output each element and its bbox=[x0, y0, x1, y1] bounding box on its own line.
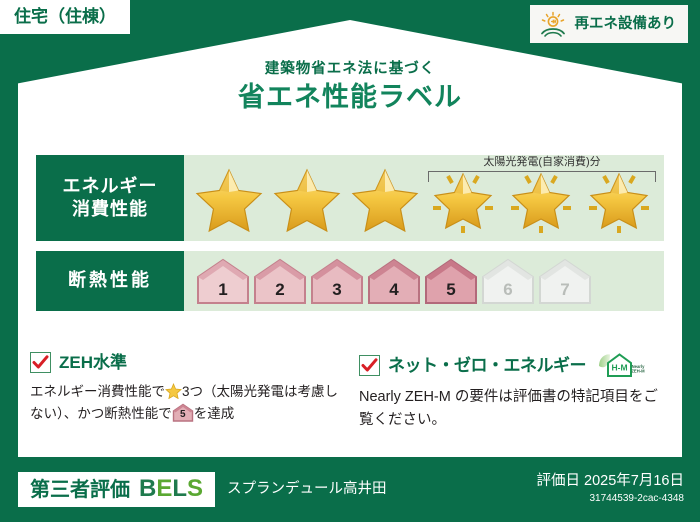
star-rating bbox=[184, 162, 664, 234]
evaluation-date-value: 2025年7月16日 bbox=[584, 473, 684, 489]
inline-star-icon bbox=[165, 383, 182, 399]
insulation-performance-label: 断熱性能 bbox=[36, 251, 184, 311]
bels-letter-e: E bbox=[156, 475, 172, 502]
check-icon bbox=[361, 357, 378, 374]
insulation-grade-4-number: 4 bbox=[367, 281, 421, 298]
insulation-grade-2-number: 2 bbox=[253, 281, 307, 298]
title-block: 建築物省エネ法に基づく 省エネ性能ラベル bbox=[0, 62, 700, 115]
zehm-logo-sub2: ZEH-M bbox=[631, 369, 645, 374]
bels-wordmark: BELS bbox=[139, 477, 203, 501]
star-6-solar bbox=[580, 162, 658, 234]
insulation-grade-2: 2 bbox=[253, 257, 307, 305]
insulation-grade-6: 6 bbox=[481, 257, 535, 305]
nearly-zeh-m-logo: H-M Nearly ZEH-M bbox=[597, 352, 645, 378]
insulation-grade-7-number: 7 bbox=[538, 281, 592, 298]
building-name: スプランデュール高井田 bbox=[227, 482, 387, 497]
renewable-equipment-badge: 再エネ設備あり bbox=[530, 5, 689, 43]
sun-solar-icon bbox=[538, 11, 568, 37]
check-icon bbox=[32, 354, 49, 371]
bels-letter-b: B bbox=[139, 475, 156, 502]
insulation-performance-row: 断熱性能 1 bbox=[36, 251, 664, 311]
insulation-grade-3-number: 3 bbox=[310, 281, 364, 298]
insulation-grade-6-number: 6 bbox=[481, 281, 535, 298]
bels-certification-box: 第三者評価 BELS bbox=[18, 472, 215, 507]
evaluation-date: 評価日 2025年7月16日 bbox=[537, 473, 684, 490]
footer-bar: 第三者評価 BELS スプランデュール高井田 評価日 2025年7月16日 31… bbox=[0, 457, 700, 522]
zeh-standard-checkbox[interactable] bbox=[30, 352, 51, 373]
energy-performance-label: エネルギー 消費性能 bbox=[36, 155, 184, 241]
insulation-rating-area: 1 2 3 bbox=[184, 251, 664, 311]
page-title: 省エネ性能ラベル bbox=[0, 81, 700, 115]
insulation-grade-5-number: 5 bbox=[424, 281, 478, 298]
insulation-grade-1: 1 bbox=[196, 257, 250, 305]
energy-label-line1: エネルギー bbox=[63, 175, 158, 198]
insulation-grade-4: 4 bbox=[367, 257, 421, 305]
energy-rating-area: 太陽光発電(自家消費)分 bbox=[184, 155, 664, 241]
insulation-grade-5: 5 bbox=[424, 257, 478, 305]
insulation-grade-3: 3 bbox=[310, 257, 364, 305]
star-4-solar bbox=[424, 162, 502, 234]
evaluation-id: 31744539-2cac-4348 bbox=[537, 492, 684, 506]
insulation-grade-1-number: 1 bbox=[196, 281, 250, 298]
inline-house-grade-icon: 5 bbox=[172, 403, 194, 422]
insulation-grade-7: 7 bbox=[538, 257, 592, 305]
building-type-tag: 住宅（住棟） bbox=[0, 0, 130, 34]
label-subtitle: 建築物省エネ法に基づく bbox=[0, 62, 700, 78]
criteria-section: ZEH水準 エネルギー消費性能で3つ（太陽光発電は考慮しない）、かつ断熱性能で5… bbox=[30, 352, 670, 432]
net-zero-energy-checkbox[interactable] bbox=[359, 355, 380, 376]
star-1 bbox=[190, 162, 268, 234]
bels-letter-l: L bbox=[172, 475, 187, 502]
zeh-desc-part1: エネルギー消費性能で bbox=[30, 384, 165, 399]
energy-label-line2: 消費性能 bbox=[72, 198, 148, 221]
star-5-solar bbox=[502, 162, 580, 234]
criterion-nze-header: ネット・ゼロ・エネルギー H-M Nearly ZEH-M bbox=[359, 352, 670, 378]
insulation-grade-list: 1 2 3 bbox=[184, 257, 592, 305]
insulation-label-text: 断熱性能 bbox=[68, 269, 152, 292]
zehm-logo-main-text: H-M bbox=[611, 363, 627, 373]
star-3 bbox=[346, 162, 424, 234]
zeh-standard-description: エネルギー消費性能で3つ（太陽光発電は考慮しない）、かつ断熱性能で5を達成 bbox=[30, 381, 341, 426]
zeh-desc-part3: を達成 bbox=[194, 406, 235, 421]
criterion-zeh-header: ZEH水準 bbox=[30, 352, 341, 373]
star-2 bbox=[268, 162, 346, 234]
evaluation-date-label: 評価日 bbox=[537, 473, 581, 489]
criterion-zeh-standard: ZEH水準 エネルギー消費性能で3つ（太陽光発電は考慮しない）、かつ断熱性能で5… bbox=[30, 352, 341, 432]
renewable-badge-label: 再エネ設備あり bbox=[575, 17, 677, 32]
net-zero-energy-title: ネット・ゼロ・エネルギー bbox=[388, 357, 586, 374]
performance-rows: エネルギー 消費性能 bbox=[36, 155, 664, 311]
energy-performance-row: エネルギー 消費性能 bbox=[36, 155, 664, 241]
criterion-net-zero-energy: ネット・ゼロ・エネルギー H-M Nearly ZEH-M bbox=[359, 352, 670, 432]
inline-house-grade-number: 5 bbox=[172, 410, 194, 420]
evaluation-info: 評価日 2025年7月16日 31744539-2cac-4348 bbox=[537, 473, 684, 505]
bels-label: 第三者評価 bbox=[30, 480, 130, 500]
zeh-standard-title: ZEH水準 bbox=[59, 354, 127, 371]
bels-letter-s: S bbox=[187, 475, 203, 502]
energy-performance-label: 住宅（住棟） 再エネ設備あり 建築物省エネ法に基づく 省エネ性能ラベル bbox=[0, 0, 700, 522]
net-zero-energy-description: Nearly ZEH-M の要件は評価書の特記項目をご覧ください。 bbox=[359, 386, 670, 432]
